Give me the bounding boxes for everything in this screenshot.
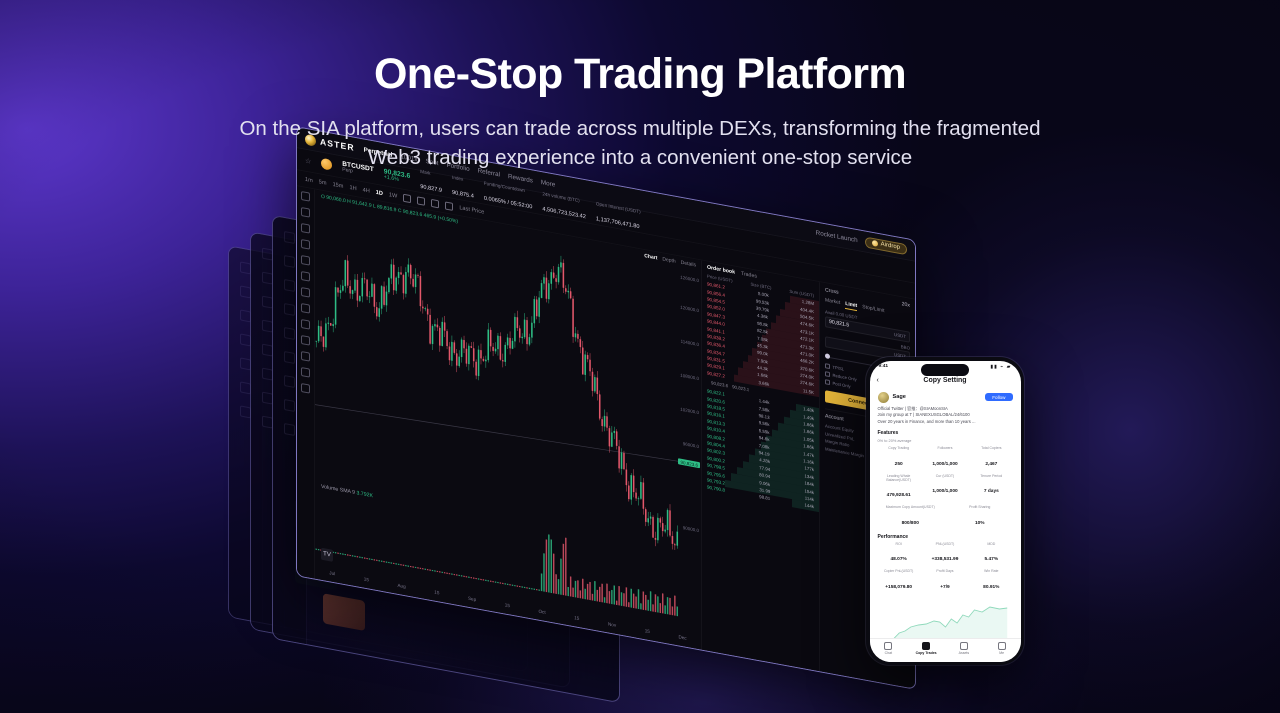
phone-nav-chat[interactable]: Chat — [870, 639, 908, 662]
features-subtitle: 0% to 20% average — [878, 438, 1013, 443]
phone-page-title: Copy Setting — [923, 377, 966, 384]
trader-description: Official Twitter | 官推：@SIAMoonSIA Join m… — [878, 406, 1013, 426]
price-input-unit: USDT — [894, 331, 906, 338]
tradingview-logo-icon: TV — [321, 548, 333, 562]
perf-key: Win Rate — [970, 569, 1012, 573]
feature-cell: Maximum Copy Amount(USDT) 800/800 — [878, 505, 944, 529]
text-icon[interactable] — [301, 255, 310, 266]
margin-mode-selector[interactable]: Cross — [825, 287, 839, 295]
y-tick-2: 114000.0 — [681, 339, 699, 347]
feature-value: 1,000/1,000 — [932, 462, 957, 467]
checkbox-icon — [825, 363, 830, 368]
feature-cell: Leading Whale Balance(USDT) 479,928.61 — [878, 474, 920, 502]
checkbox-icon — [825, 379, 830, 384]
phone-nav-copy-trades[interactable]: Copy Trades — [907, 639, 945, 662]
ticker-price: 130.1 — [852, 688, 864, 690]
ticker-change: -1.95% — [740, 666, 754, 674]
perf-key: Copier PnL(USDT) — [878, 569, 920, 573]
checkbox-icon — [825, 371, 830, 376]
ticker-item[interactable]: LINKUSDT11.95-1.73% — [764, 670, 819, 686]
price-chart[interactable]: O 90,060.0 H 91,642.9 L 89,816.9 C 90,82… — [315, 190, 701, 652]
fib-icon[interactable] — [301, 223, 310, 234]
perf-value: 48.07% — [891, 557, 907, 562]
ticker-item[interactable]: ORNUSDT0.5660.78% — [641, 648, 695, 664]
bid-rows: 90,822.11.44k1.48k90,820.67.58k1.49k90,8… — [702, 387, 819, 512]
avatar — [878, 392, 889, 403]
settings-icon[interactable] — [431, 198, 439, 207]
perf-key: MDD — [970, 542, 1012, 546]
last-price-tag: 90,823.6 — [678, 458, 700, 468]
ticker-name: SOLUSDT — [827, 683, 850, 690]
trash-icon[interactable] — [301, 383, 310, 394]
feature-key: Leading Whale Balance(USDT) — [878, 474, 920, 482]
tool-icon — [284, 375, 295, 388]
timeframe-1m[interactable]: 1m — [305, 176, 313, 183]
feature-key: Profit Sharing — [947, 505, 1013, 509]
feature-value: 7 days — [984, 489, 999, 494]
ticker-name: ORNUSDT — [641, 649, 665, 658]
status-time: 9:41 — [879, 364, 889, 369]
checkbox-tpsl-label: TP/SL — [833, 365, 845, 372]
profile-icon — [998, 642, 1006, 650]
desc-line2: Join my group at T | SIANEXUSGLOBAL/24/6… — [878, 412, 970, 417]
x-tick-2: Aug — [397, 582, 405, 589]
desc-line1: Official Twitter | 官推：@SIAMoonSIA — [878, 406, 948, 411]
price-source-selector[interactable]: Last Price — [459, 205, 484, 216]
page-title: One-Stop Trading Platform — [0, 52, 1280, 98]
ticker-change: -1.73% — [804, 678, 818, 686]
timeframe-1d[interactable]: 1D — [376, 189, 383, 196]
tool-icon — [284, 399, 295, 412]
timeframe-4h[interactable]: 4H — [363, 187, 370, 194]
x-tick-5: 15 — [505, 602, 510, 608]
timeframe-15m[interactable]: 15m — [333, 181, 344, 189]
hero-section: One-Stop Trading Platform On the SIA pla… — [0, 52, 1280, 172]
x-tick-7: 15 — [574, 615, 579, 621]
hero-subtitle-line2: Web3 trading experience into a convenien… — [368, 146, 912, 169]
phone-nav-me[interactable]: Me — [983, 639, 1021, 662]
x-tick-8: Nov — [608, 621, 616, 627]
feature-key: Copy Trading — [878, 446, 920, 450]
ticker-change: 0.78% — [681, 655, 694, 662]
feature-value: 800/800 — [902, 521, 919, 526]
x-tick-6: Oct — [538, 608, 545, 614]
trader-profile: Sage Follow — [878, 392, 1013, 403]
stat-index-value: 90,875.4 — [452, 190, 474, 200]
perf-key: PNL(USDT) — [924, 542, 966, 546]
perf-value: 5.47% — [985, 557, 999, 562]
nav-item-rewards[interactable]: Rewards — [508, 173, 533, 185]
feature-key: Maximum Copy Amount(USDT) — [878, 505, 944, 509]
x-tick-1: 15 — [364, 576, 369, 582]
x-tick-9: 15 — [645, 628, 650, 634]
stat-mark: Mark 90,827.9 — [420, 169, 442, 197]
y-tick-0: 126000.0 — [680, 275, 699, 283]
feature-row: Maximum Copy Amount(USDT) 800/800 Profit… — [878, 505, 1013, 529]
feature-row: Copy Trading 250 Followers 1,000/1,000 T… — [878, 446, 1013, 470]
chat-icon — [884, 642, 892, 650]
feature-cell: Tenure Period 7 days — [970, 474, 1012, 502]
feature-key: Tenure Period — [970, 474, 1012, 478]
feature-value: 479,928.61 — [887, 493, 911, 498]
perf-value: +158,079.80 — [885, 585, 912, 590]
desc-line3: Over 20 years in Finance, and more than … — [878, 419, 976, 424]
phone-nav-copy-label: Copy Trades — [907, 651, 945, 655]
feature-row: Leading Whale Balance(USDT) 479,928.61 C… — [878, 474, 1013, 502]
perf-row: ROI 48.07% PNL(USDT) +338,531.99 MDD 5.4… — [878, 542, 1013, 566]
y-tick-5: 96000.0 — [683, 441, 699, 449]
slider-knob[interactable] — [825, 353, 830, 359]
feature-cell: Total Copiers 2,467 — [970, 446, 1012, 470]
mid-price-value: 90,823.6 — [711, 380, 728, 388]
perf-value: +338,531.99 — [932, 557, 959, 562]
perf-cell: Win Rate 80.91% — [970, 569, 1012, 593]
order-type-market[interactable]: Market — [825, 297, 840, 308]
feature-cell: Profit Sharing 10% — [947, 505, 1013, 529]
pattern-icon[interactable] — [301, 271, 310, 282]
row-size: 98.81 — [759, 494, 770, 501]
feature-key: Total Copiers — [970, 446, 1012, 450]
order-type-stop-limit[interactable]: Stop/Limit — [862, 304, 884, 316]
tool-icon — [284, 255, 295, 268]
rocket-launch-link[interactable]: Rocket Launch — [816, 229, 858, 244]
feature-value: 250 — [895, 462, 903, 467]
phone-screen: 9:41 ▮▮ ⌁ ▰ ‹ Copy Setting Sage Follow O… — [870, 361, 1021, 662]
hero-subtitle: On the SIA platform, users can trade acr… — [0, 114, 1280, 172]
perf-key: ROI — [878, 542, 920, 546]
ticker-item[interactable]: SOLUSDT130.12.54% — [827, 682, 879, 690]
ticker-price: 2.478 — [726, 664, 738, 671]
feature-key: Followers — [924, 446, 966, 450]
y-tick-3: 108000.0 — [680, 373, 699, 381]
tool-icon — [284, 327, 295, 340]
price-input-value: 90,821.5 — [829, 319, 849, 329]
pitchfork-icon[interactable] — [301, 239, 310, 250]
row-price: 90,790.8 — [707, 485, 725, 493]
thumbnail — [323, 593, 365, 631]
phone-header: ‹ Copy Setting — [870, 373, 1021, 388]
perf-cell: Profit Days +7/9 — [924, 569, 966, 593]
status-icons: ▮▮ ⌁ ▰ — [990, 364, 1011, 370]
ruler-icon[interactable] — [301, 319, 310, 330]
x-tick-0: Jul — [329, 570, 335, 576]
feature-cell: Followers 1,000/1,000 — [924, 446, 966, 470]
feature-cell: Copy Trading 250 — [878, 446, 920, 470]
tool-icon — [284, 303, 295, 316]
nav-item-more[interactable]: More — [541, 179, 555, 189]
feature-value: 10% — [975, 521, 985, 526]
airdrop-label: Airdrop — [881, 241, 900, 251]
trader-name: Sage — [893, 394, 906, 400]
stat-mark-value: 90,827.9 — [420, 184, 442, 194]
timeframe-1w[interactable]: 1W — [389, 192, 397, 200]
ticker-name: LINKUSDT — [764, 671, 788, 680]
feature-value: 2,467 — [985, 462, 997, 467]
feature-value: 1,000/1,000 — [932, 489, 957, 494]
perf-cell: ROI 48.07% — [878, 542, 920, 566]
magnet-icon[interactable] — [301, 335, 310, 346]
perf-value: +7/9 — [940, 585, 949, 590]
airdrop-icon — [872, 240, 878, 247]
y-tick-6: 90000.0 — [683, 525, 699, 533]
chart-type-icon[interactable] — [417, 196, 425, 205]
order-book-panel: Order book Trades Price (USDT) Size (BTC… — [701, 260, 819, 673]
lock-icon[interactable] — [301, 351, 310, 362]
phone-content: Sage Follow Official Twitter | 官推：@SIAMo… — [870, 388, 1021, 662]
tool-icon — [284, 423, 295, 436]
perf-value: 80.91% — [983, 585, 999, 590]
tool-icon — [284, 351, 295, 364]
x-tick-10: Dec — [678, 634, 686, 640]
ticker-price: 0.566 — [667, 654, 679, 661]
airdrop-button[interactable]: Airdrop — [865, 236, 907, 255]
x-tick-3: 15 — [434, 589, 439, 595]
order-type-limit[interactable]: Limit — [845, 301, 857, 311]
page-root: One-Stop Trading Platform On the SIA pla… — [0, 0, 1280, 713]
ticker-item[interactable]: FILUSDT2.478-1.95% — [703, 659, 754, 674]
indicators-icon[interactable] — [403, 193, 411, 202]
ticker-name: FILUSDT — [703, 660, 723, 669]
mobile-device-mockup: 9:41 ▮▮ ⌁ ▰ ‹ Copy Setting Sage Follow O… — [866, 357, 1024, 665]
phone-nav-chat-label: Chat — [870, 651, 908, 655]
phone-bottom-nav: Chat Copy Trades Assets Me — [870, 638, 1021, 662]
perf-cell: PNL(USDT) +338,531.99 — [924, 542, 966, 566]
eye-icon[interactable] — [301, 367, 310, 378]
tool-icon — [284, 279, 295, 292]
follow-button[interactable]: Follow — [985, 393, 1012, 401]
phone-nav-me-label: Me — [983, 651, 1021, 655]
hero-subtitle-line1: On the SIA platform, users can trade acr… — [239, 117, 1040, 140]
crosshair-icon[interactable] — [301, 191, 310, 202]
drawing-toolbar — [297, 186, 315, 580]
perf-row: Copier PnL(USDT) +158,079.80 Profit Days… — [878, 569, 1013, 593]
measure-icon[interactable] — [301, 287, 310, 298]
leverage-selector[interactable]: 20x — [902, 301, 910, 309]
x-tick-4: Sep — [468, 595, 476, 602]
perf-cell: MDD 5.47% — [970, 542, 1012, 566]
ticker-price: 11.95 — [790, 676, 802, 683]
back-arrow-icon[interactable]: ‹ — [877, 377, 879, 384]
stat-index: Index 90,875.4 — [452, 175, 474, 203]
ticker-change: 2.54% — [867, 689, 880, 690]
feature-key: Cur (USDT) — [924, 474, 966, 478]
copy-trades-icon — [922, 642, 930, 650]
mid-mark-value: 90,823.1 — [732, 384, 749, 392]
feature-cell: Cur (USDT) 1,000/1,000 — [924, 474, 966, 502]
trendline-icon[interactable] — [301, 207, 310, 218]
y-tick-1: 120000.0 — [680, 305, 699, 313]
tool-icon — [284, 231, 295, 244]
timeframe-1h[interactable]: 1H — [349, 184, 356, 191]
assets-icon — [960, 642, 968, 650]
y-tick-4: 102000.0 — [680, 407, 699, 415]
perf-key: Profit Days — [924, 569, 966, 573]
timeframe-5m[interactable]: 5m — [319, 179, 327, 186]
phone-nav-assets[interactable]: Assets — [945, 639, 983, 662]
perf-cell: Copier PnL(USDT) +158,079.80 — [878, 569, 920, 593]
clock-icon[interactable] — [301, 303, 310, 314]
fullscreen-icon[interactable] — [445, 201, 453, 210]
price-axis: 126000.0 120000.0 114000.0 108000.0 1020… — [675, 256, 701, 652]
checkbox-post-label: Post Only — [833, 381, 851, 389]
device-stack: ASTER Perpetual 1001x Spot Portfolio Ref… — [0, 175, 1280, 695]
features-title: Features — [878, 430, 1013, 436]
performance-title: Performance — [878, 534, 1013, 540]
phone-nav-assets-label: Assets — [945, 651, 983, 655]
